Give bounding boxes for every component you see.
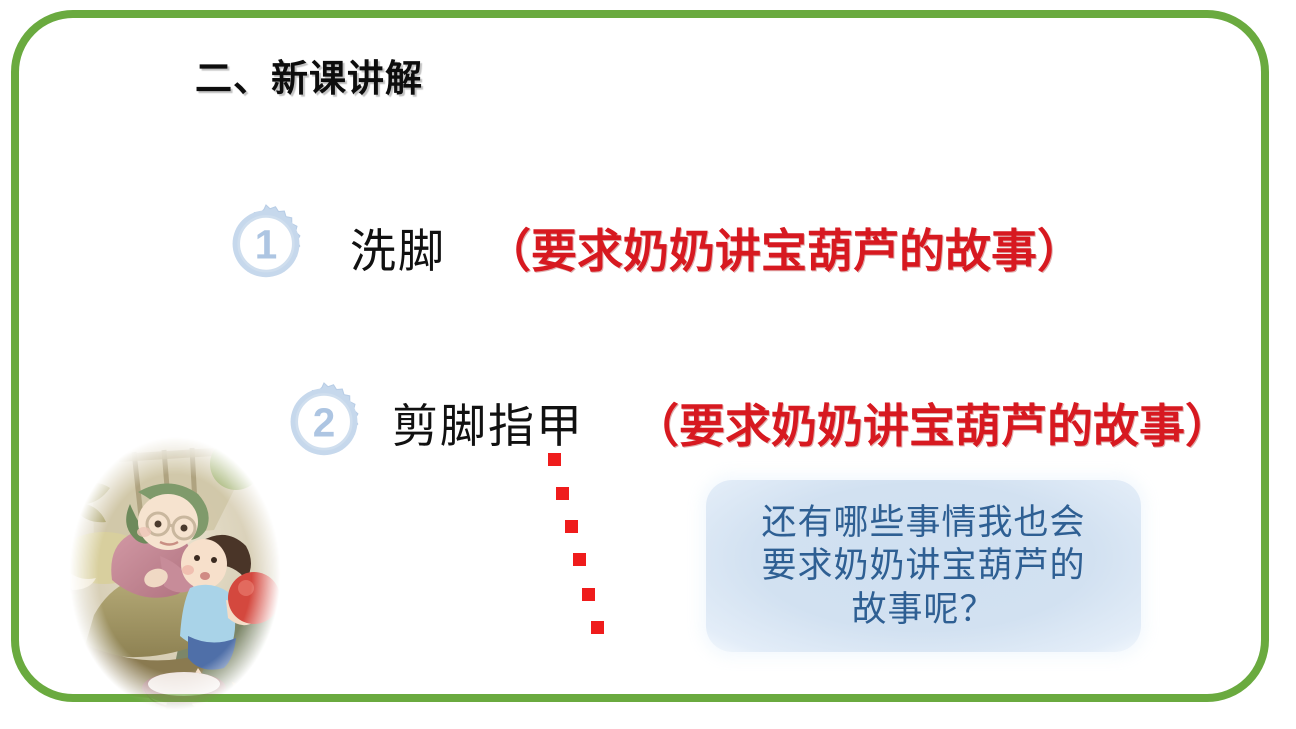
gear-badge-icon-2: 2 [280, 376, 368, 464]
gear-badge-number-1: 1 [255, 222, 278, 268]
callout-line: 要求奶奶讲宝葫芦的 [761, 544, 1085, 587]
callout-line: 故事呢？ [761, 588, 1085, 631]
slide-frame: 二、新课讲解 1 洗脚 （要求奶奶讲宝葫芦的故事） 2 剪脚指甲 [11, 10, 1269, 702]
page-title: 二、新课讲解 [195, 48, 423, 102]
item-note-2: （要求奶奶讲宝葫芦的故事） [633, 390, 1231, 456]
red-square-dot [565, 520, 578, 533]
gear-badge-icon-1: 1 [222, 198, 310, 286]
red-square-dot [573, 553, 586, 566]
callout-line: 还有哪些事情我也会 [761, 501, 1085, 544]
gear-badge-number-2: 2 [313, 400, 336, 446]
item-label-2: 剪脚指甲 [392, 390, 584, 456]
red-square-dot [582, 588, 595, 601]
red-square-dot [591, 621, 604, 634]
illustration-grandmother-and-boy [64, 430, 286, 717]
callout-box: 还有哪些事情我也会要求奶奶讲宝葫芦的故事呢？ [706, 480, 1141, 652]
red-square-dot [556, 487, 569, 500]
item-label-1: 洗脚 [350, 215, 446, 281]
callout-text: 还有哪些事情我也会要求奶奶讲宝葫芦的故事呢？ [747, 501, 1099, 631]
red-square-dot [548, 453, 561, 466]
item-note-1: （要求奶奶讲宝葫芦的故事） [485, 215, 1083, 281]
